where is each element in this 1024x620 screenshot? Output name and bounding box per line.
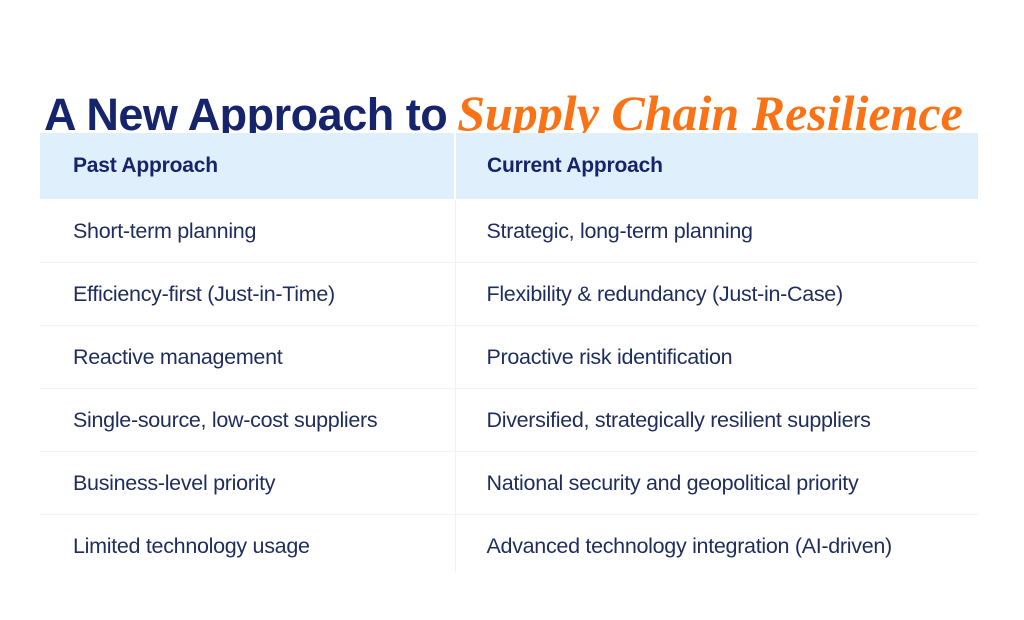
table-row: Single-source, low-cost suppliers Divers… [40,389,978,452]
column-header-current-approach: Current Approach [455,133,978,200]
table-header: Past Approach Current Approach [40,133,978,200]
comparison-table: Past Approach Current Approach Short-ter… [40,133,978,572]
cell-past-approach: Short-term planning [40,200,455,263]
cell-current-approach: Advanced technology integration (AI-driv… [455,515,978,573]
cell-past-approach: Efficiency-first (Just-in-Time) [40,263,455,326]
comparison-table-card: Past Approach Current Approach Short-ter… [40,133,978,572]
cell-current-approach: Strategic, long-term planning [455,200,978,263]
column-header-past-approach: Past Approach [40,133,455,200]
cell-past-approach: Single-source, low-cost suppliers [40,389,455,452]
cell-current-approach: Proactive risk identification [455,326,978,389]
cell-past-approach: Business-level priority [40,452,455,515]
cell-past-approach: Limited technology usage [40,515,455,573]
table-row: Short-term planning Strategic, long-term… [40,200,978,263]
cell-current-approach: Diversified, strategically resilient sup… [455,389,978,452]
infographic-page: A New Approach toSupply Chain Resilience… [0,0,1024,620]
cell-current-approach: Flexibility & redundancy (Just-in-Case) [455,263,978,326]
table-body: Short-term planning Strategic, long-term… [40,200,978,573]
table-header-row: Past Approach Current Approach [40,133,978,200]
table-row: Efficiency-first (Just-in-Time) Flexibil… [40,263,978,326]
table-row: Limited technology usage Advanced techno… [40,515,978,573]
cell-current-approach: National security and geopolitical prior… [455,452,978,515]
table-row: Business-level priority National securit… [40,452,978,515]
cell-past-approach: Reactive management [40,326,455,389]
table-row: Reactive management Proactive risk ident… [40,326,978,389]
